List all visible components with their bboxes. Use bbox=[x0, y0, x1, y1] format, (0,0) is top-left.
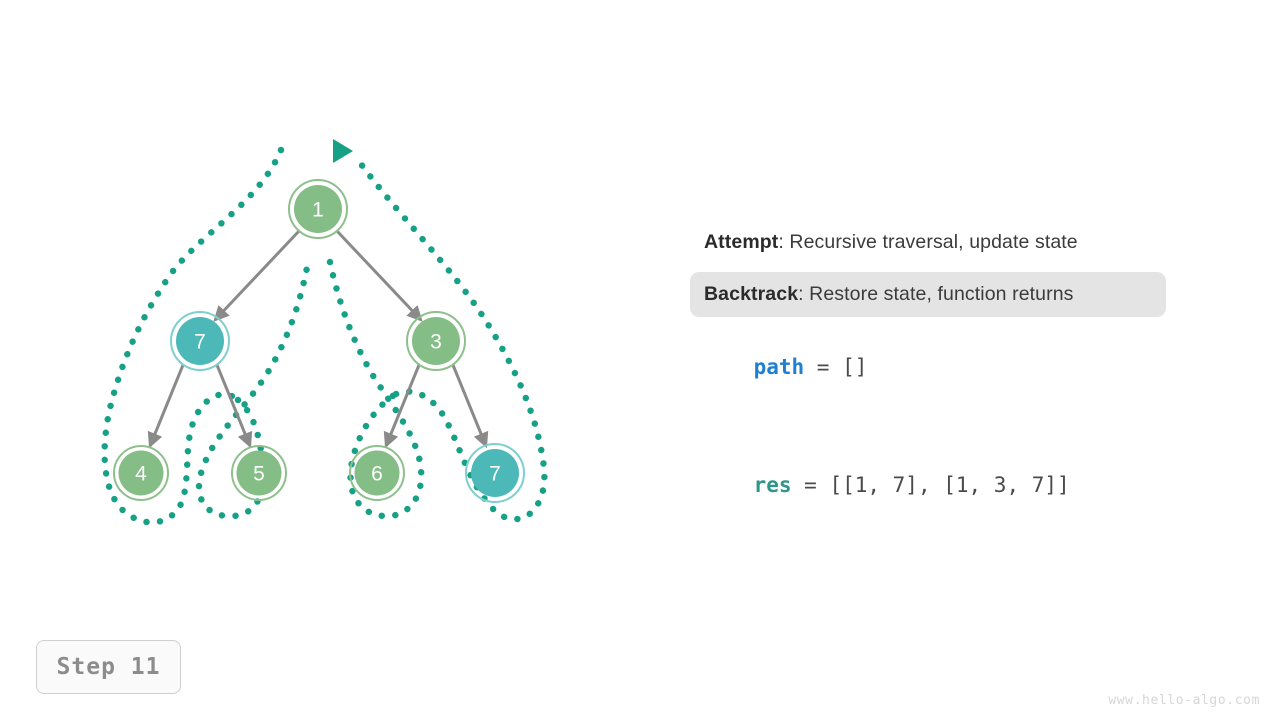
path-state-line: path = [] bbox=[703, 331, 867, 403]
legend-backtrack-text: : Restore state, function returns bbox=[798, 283, 1073, 305]
tree-node-6[interactable]: 6 bbox=[350, 446, 404, 500]
step-badge: Step 11 bbox=[36, 640, 181, 694]
res-variable-name: res bbox=[754, 473, 792, 497]
site-watermark: www.hello-algo.com bbox=[1108, 693, 1260, 708]
step-badge-label: Step 11 bbox=[57, 654, 161, 680]
legend-attempt-text: : Recursive traversal, update state bbox=[778, 231, 1077, 253]
tree-node-1[interactable]: 1 bbox=[289, 180, 347, 238]
legend-backtrack-line: Backtrack: Restore state, function retur… bbox=[704, 283, 1074, 306]
edge-3-6 bbox=[386, 365, 419, 446]
res-variable-value: = [[1, 7], [1, 3, 7]] bbox=[792, 473, 1070, 497]
trace-arrowhead-icon bbox=[333, 139, 353, 163]
explanation-panel: Attempt: Recursive traversal, update sta… bbox=[690, 0, 1250, 720]
legend-attempt-line: Attempt: Recursive traversal, update sta… bbox=[704, 231, 1078, 254]
binary-tree-svg: 1 7 3 4 5 6 7 bbox=[0, 0, 660, 720]
legend-attempt-keyword: Attempt bbox=[704, 231, 778, 253]
edge-7-4 bbox=[150, 365, 183, 446]
edge-3-7r bbox=[453, 365, 486, 446]
edge-1-3 bbox=[337, 231, 421, 320]
tree-node-5[interactable]: 5 bbox=[232, 446, 286, 500]
tree-node-4[interactable]: 4 bbox=[114, 446, 168, 500]
legend-backtrack-keyword: Backtrack bbox=[704, 283, 798, 305]
tree-visualization-panel: 1 7 3 4 5 6 7 bbox=[0, 0, 660, 720]
edge-1-7 bbox=[215, 231, 299, 320]
path-variable-name: path bbox=[754, 355, 805, 379]
tree-node-3[interactable]: 3 bbox=[407, 312, 465, 370]
tree-node-7-right[interactable]: 7 bbox=[466, 444, 524, 502]
tree-node-7-left[interactable]: 7 bbox=[171, 312, 229, 370]
res-state-line: res = [[1, 7], [1, 3, 7]] bbox=[703, 449, 1070, 521]
path-variable-value: = [] bbox=[804, 355, 867, 379]
